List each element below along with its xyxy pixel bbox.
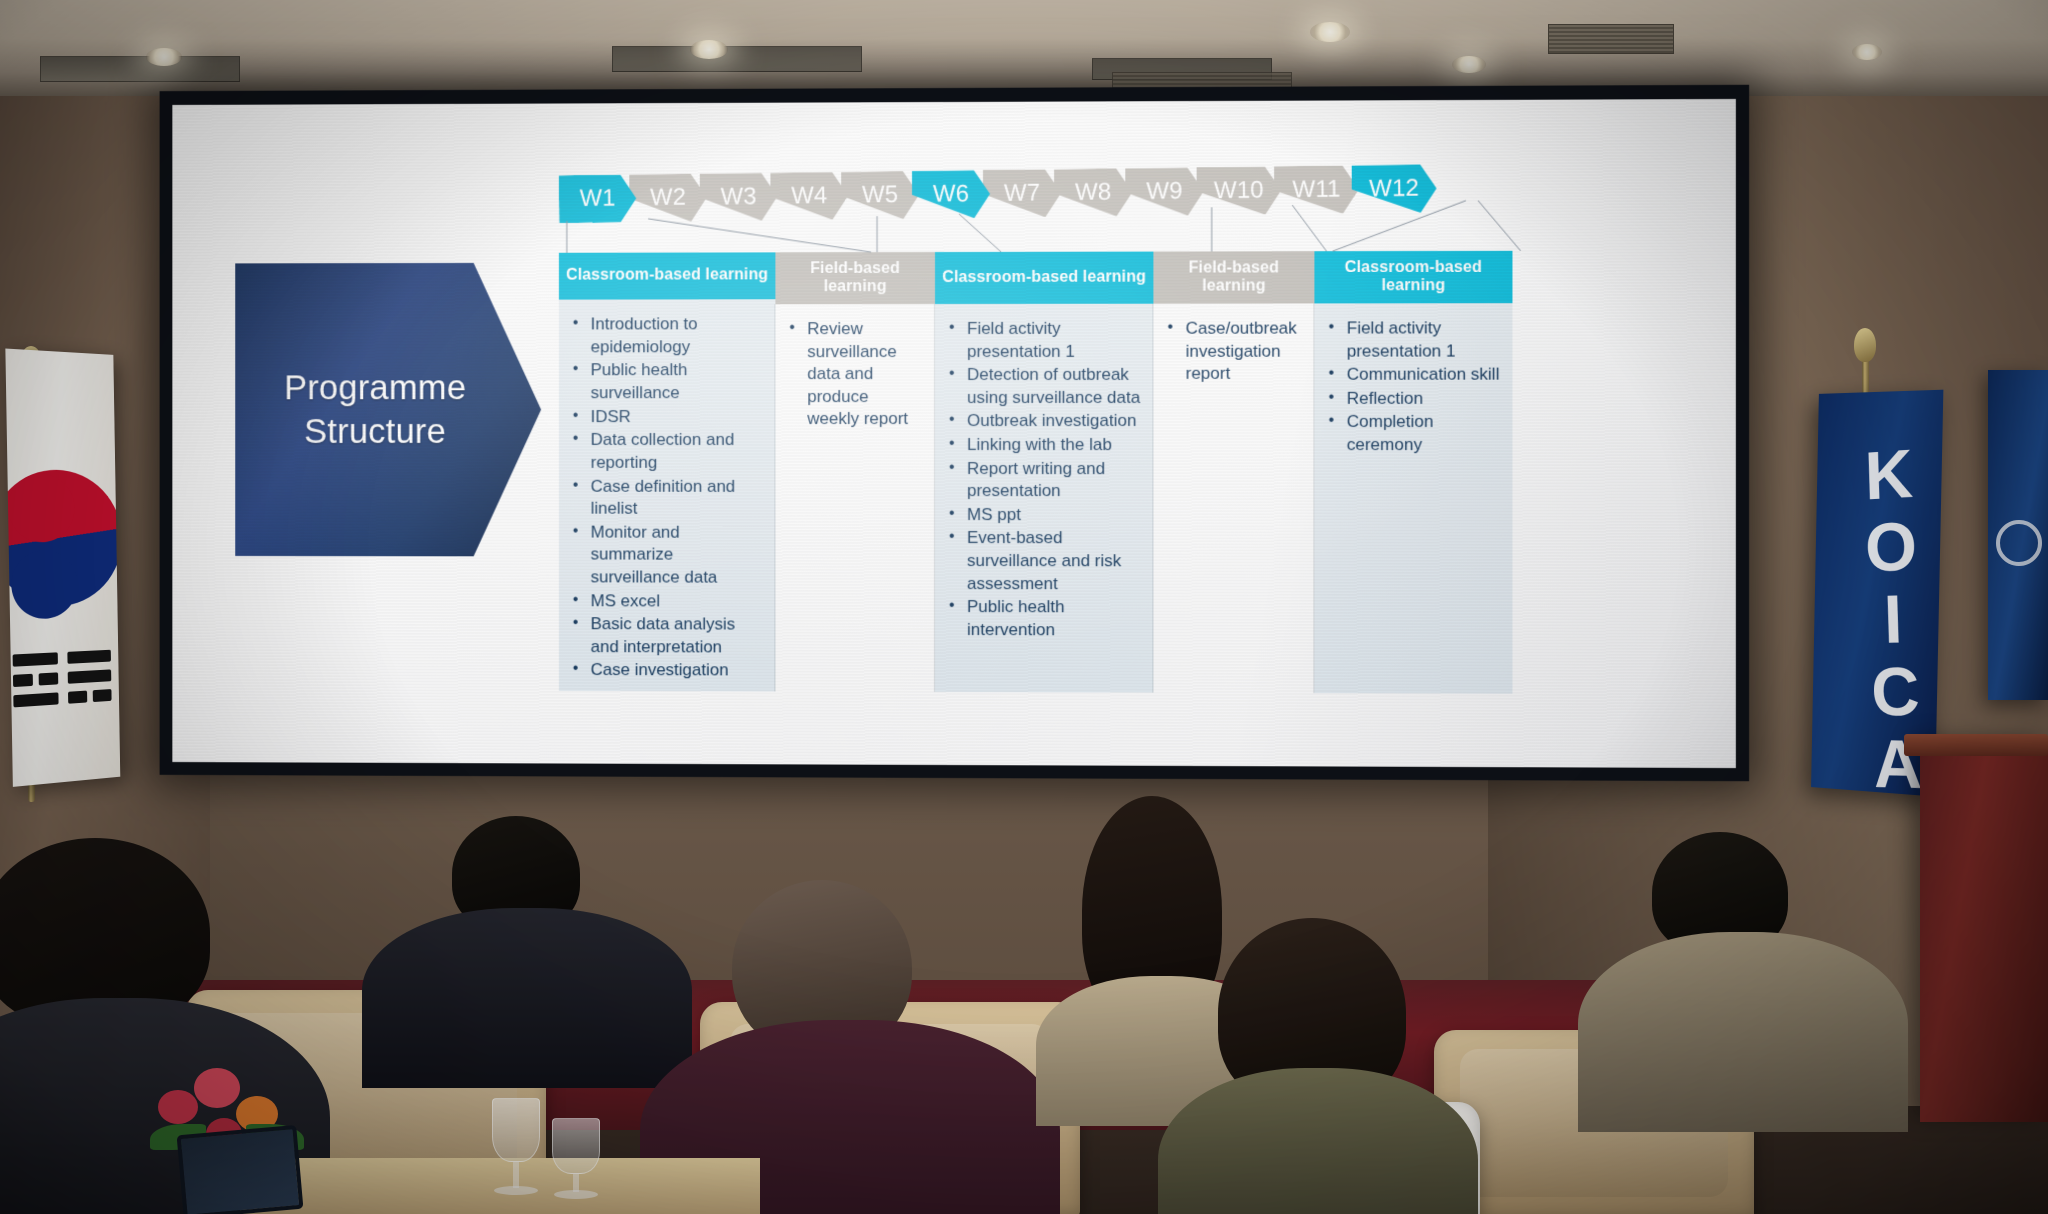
flower xyxy=(194,1068,240,1108)
week-chevron-label: W8 xyxy=(1075,178,1111,206)
week-chevron-w5: W5 xyxy=(841,171,919,220)
trigram-bar xyxy=(13,652,58,666)
week-chevron-label: W11 xyxy=(1292,176,1340,205)
bullet-list: Field activity presentation 1Detection o… xyxy=(943,318,1143,642)
week-chevron-w2: W2 xyxy=(629,174,707,223)
torso xyxy=(1578,932,1908,1132)
ceiling-vent xyxy=(1548,24,1674,54)
programme-columns: Classroom-based learningIntroduction to … xyxy=(559,250,1685,694)
bullet-item: Linking with the lab xyxy=(943,434,1143,457)
week-chevron-w1: W1 xyxy=(559,174,637,223)
week-chevron-w11: W11 xyxy=(1274,165,1359,214)
week-chevron-w8: W8 xyxy=(1054,168,1133,217)
week-chevron-label: W2 xyxy=(650,184,686,212)
week-chevron-label: W9 xyxy=(1146,178,1182,207)
bullet-item: Public health surveillance xyxy=(567,360,766,405)
programme-column-3: Classroom-based learningField activity p… xyxy=(935,252,1153,693)
tablet-device[interactable] xyxy=(177,1125,304,1214)
week-chevron-w6: W6 xyxy=(912,170,990,219)
bullet-item: Case/outbreak investigation report xyxy=(1161,318,1304,386)
week-chevron-w4: W4 xyxy=(770,172,848,221)
ceiling-downlight xyxy=(1852,44,1882,60)
wine-glass-base xyxy=(554,1190,598,1199)
ceiling-panel xyxy=(40,56,240,82)
projection-screen-frame: Programme Structure W1W2W3W4W5W6W7W8W9W1… xyxy=(160,85,1750,781)
flower xyxy=(158,1090,198,1124)
flag-emblem xyxy=(1996,520,2042,566)
conference-room: Programme Structure W1W2W3W4W5W6W7W8W9W1… xyxy=(0,0,2048,1214)
column-header: Classroom-based learning xyxy=(935,252,1153,304)
week-chevron-label: W6 xyxy=(933,180,969,208)
programme-column-1: Classroom-based learningIntroduction to … xyxy=(559,252,775,691)
column-header: Field-based learning xyxy=(1153,251,1314,303)
column-header: Classroom-based learning xyxy=(559,252,775,299)
torso xyxy=(362,908,692,1088)
bullet-item: Report writing and presentation xyxy=(943,458,1143,503)
column-body: Review surveillance data and produce wee… xyxy=(775,304,935,692)
bullet-item: Public health intervention xyxy=(943,596,1143,642)
bullet-item: Outbreak investigation xyxy=(943,410,1143,433)
trigram-bar xyxy=(39,672,59,685)
trigram-bar xyxy=(68,669,112,683)
wine-glass xyxy=(552,1118,600,1174)
week-chevron-label: W5 xyxy=(862,181,898,209)
title-line-2: Structure xyxy=(304,412,446,451)
week-chevron-label: W4 xyxy=(791,182,827,210)
bullet-item: MS ppt xyxy=(943,504,1143,527)
trigram-bar xyxy=(13,692,58,707)
week-chevron-w9: W9 xyxy=(1125,167,1204,216)
trigram-bar xyxy=(13,674,33,687)
ceiling-downlight xyxy=(690,40,728,59)
trigram-bar xyxy=(68,691,87,704)
column-body: Field activity presentation 1Communicati… xyxy=(1314,303,1512,694)
bullet-item: Detection of outbreak using surveillance… xyxy=(943,364,1143,409)
column-header: Classroom-based learning xyxy=(1314,251,1512,304)
korean-flag xyxy=(5,349,120,787)
wine-glass-stem xyxy=(513,1162,519,1188)
programme-column-4: Field-based learningCase/outbreak invest… xyxy=(1153,251,1314,693)
ceiling-panel xyxy=(612,46,862,72)
bullet-item: Completion ceremony xyxy=(1322,411,1502,457)
wine-glass xyxy=(492,1098,540,1162)
bullet-item: Monitor and summarize surveillance data xyxy=(567,521,766,589)
bullet-item: Case definition and linelist xyxy=(567,475,766,520)
bullet-list: Case/outbreak investigation report xyxy=(1161,318,1304,386)
trigram-bar xyxy=(93,689,112,702)
column-body: Field activity presentation 1Detection o… xyxy=(935,304,1153,693)
flagpole-finial xyxy=(1854,328,1876,362)
bullet-item: Event-based surveillance and risk assess… xyxy=(943,527,1143,595)
week-chevron-label: W3 xyxy=(721,183,757,211)
presentation-slide: Programme Structure W1W2W3W4W5W6W7W8W9W1… xyxy=(172,99,1736,768)
programme-column-5: Classroom-based learningField activity p… xyxy=(1314,251,1512,694)
week-chevron-w10: W10 xyxy=(1196,166,1281,215)
week-chevron-label: W7 xyxy=(1004,179,1040,207)
bullet-list: Review surveillance data and produce wee… xyxy=(783,318,925,431)
week-chevron-w12: W12 xyxy=(1351,164,1436,213)
column-body: Case/outbreak investigation report xyxy=(1153,303,1314,693)
week-chevron-label: W10 xyxy=(1214,176,1264,205)
title-line-1: Programme xyxy=(284,368,466,407)
week-chevron-w7: W7 xyxy=(983,169,1062,218)
slide-title-shape: Programme Structure xyxy=(235,263,541,557)
taeguk-symbol xyxy=(5,446,120,631)
column-body: Introduction to epidemiologyPublic healt… xyxy=(559,300,775,692)
podium xyxy=(1920,742,2048,1122)
week-chevron-label: W12 xyxy=(1369,175,1419,204)
bullet-item: Case investigation xyxy=(567,659,766,682)
bullet-item: Field activity presentation 1 xyxy=(1322,317,1502,363)
organisation-flag xyxy=(1988,370,2048,700)
bullet-list: Field activity presentation 1Communicati… xyxy=(1322,317,1502,457)
week-timeline: W1W2W3W4W5W6W7W8W9W10W11W12 xyxy=(559,164,1437,223)
ceiling-downlight xyxy=(1452,56,1486,73)
column-header: Field-based learning xyxy=(775,252,935,304)
week-chevron-w3: W3 xyxy=(700,173,778,222)
bullet-item: Reflection xyxy=(1322,388,1502,411)
trigram-bar xyxy=(67,650,111,664)
ceiling xyxy=(0,0,2048,96)
programme-column-2: Field-based learningReview surveillance … xyxy=(775,252,935,692)
podium-top xyxy=(1904,734,2048,756)
projection-screen: Programme Structure W1W2W3W4W5W6W7W8W9W1… xyxy=(172,99,1736,768)
slide-title-text: Programme Structure xyxy=(284,366,492,452)
ceiling-downlight xyxy=(146,48,182,66)
bullet-item: Review surveillance data and produce wee… xyxy=(783,318,925,431)
wine-glass-base xyxy=(494,1186,538,1195)
bullet-item: Basic data analysis and interpretation xyxy=(567,613,766,659)
bullet-item: Introduction to epidemiology xyxy=(567,314,766,359)
bullet-item: MS excel xyxy=(567,590,766,613)
ceiling-downlight xyxy=(1310,22,1350,42)
week-chevron-label: W1 xyxy=(580,185,616,213)
bullet-item: Field activity presentation 1 xyxy=(943,318,1143,363)
bullet-list: Introduction to epidemiologyPublic healt… xyxy=(567,314,766,683)
bullet-item: Data collection and reporting xyxy=(567,429,766,474)
bullet-item: IDSR xyxy=(567,406,766,429)
bullet-item: Communication skill xyxy=(1322,364,1502,387)
